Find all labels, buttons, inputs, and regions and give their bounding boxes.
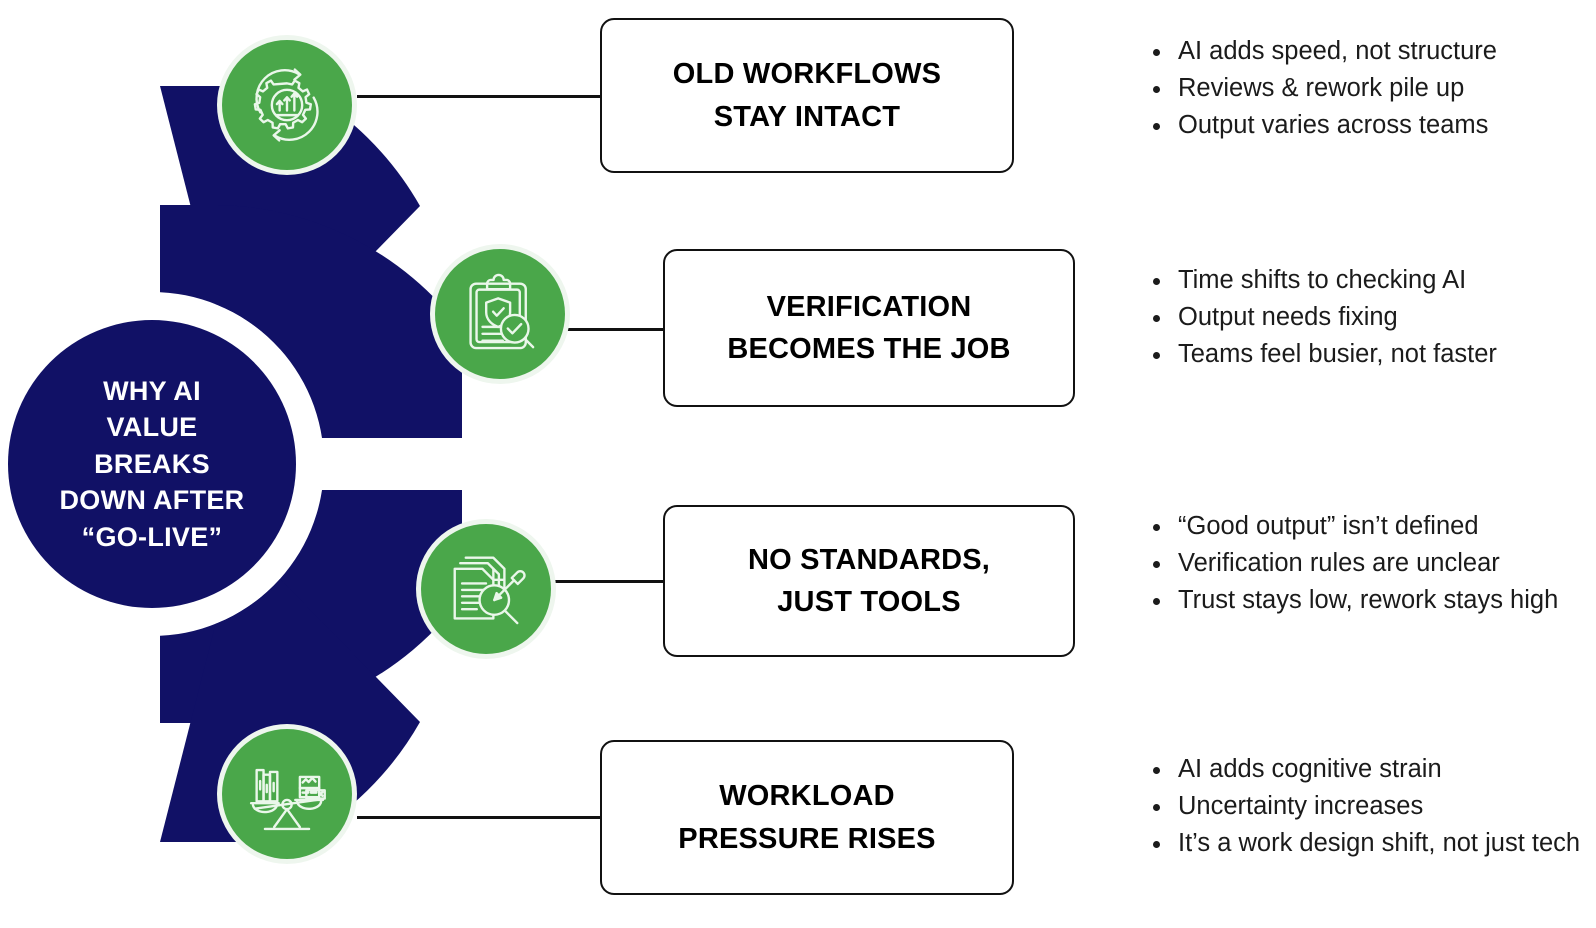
connector-line-4 [357, 816, 602, 819]
branch-title-line-1: VERIFICATION [727, 286, 1010, 328]
infographic-canvas: WHY AI VALUE BREAKS DOWN AFTER “GO-LIVE” [0, 0, 1596, 928]
gear-growth-cycle-icon [241, 59, 333, 151]
balance-scale-books-boxes-icon [241, 748, 333, 840]
bullet-item: Output varies across teams [1174, 108, 1596, 143]
branch-bullets-verification: Time shifts to checking AI Output needs … [1140, 263, 1596, 375]
branch-bullets-no-standards: “Good output” isn’t defined Verification… [1140, 509, 1596, 621]
bullet-item: Time shifts to checking AI [1174, 263, 1596, 298]
branch-title-box-no-standards[interactable]: NO STANDARDS, JUST TOOLS [663, 505, 1075, 657]
branch-title-box-verification[interactable]: VERIFICATION BECOMES THE JOB [663, 249, 1075, 407]
bullet-item: Teams feel busier, not faster [1174, 337, 1596, 372]
branch-title-line-1: NO STANDARDS, [748, 539, 990, 581]
bullet-item: Reviews & rework pile up [1174, 71, 1596, 106]
branch-bullets-workload: AI adds cognitive strain Uncertainty inc… [1140, 752, 1596, 864]
bullet-item: Uncertainty increases [1174, 789, 1596, 824]
branch-title-line-2: PRESSURE RISES [678, 818, 935, 860]
branch-title-box-workload[interactable]: WORKLOAD PRESSURE RISES [600, 740, 1014, 895]
branch-icon-no-standards[interactable] [421, 524, 551, 654]
branch-title-line-2: JUST TOOLS [748, 581, 990, 623]
branch-icon-workload[interactable] [222, 729, 352, 859]
bullet-item: “Good output” isn’t defined [1174, 509, 1596, 544]
clipboard-shield-check-magnifier-icon [454, 268, 546, 360]
branch-title-box-old-workflows[interactable]: OLD WORKFLOWS STAY INTACT [600, 18, 1014, 173]
branch-title-line-2: BECOMES THE JOB [727, 328, 1010, 370]
branch-title-line-1: WORKLOAD [678, 775, 935, 817]
branch-icon-verification[interactable] [435, 249, 565, 379]
branch-icon-old-workflows[interactable] [222, 40, 352, 170]
connector-line-3 [553, 580, 665, 583]
connector-line-2 [567, 328, 665, 331]
bullet-item: Output needs fixing [1174, 300, 1596, 335]
bullet-item: Verification rules are unclear [1174, 546, 1596, 581]
bullet-item: AI adds cognitive strain [1174, 752, 1596, 787]
connector-line-1 [357, 95, 602, 98]
documents-magnifier-pencil-icon [440, 543, 532, 635]
hub-circle [8, 320, 296, 608]
bullet-item: Trust stays low, rework stays high [1174, 583, 1596, 618]
bullet-item: AI adds speed, not structure [1174, 34, 1596, 69]
branch-title-line-1: OLD WORKFLOWS [673, 53, 941, 95]
branch-title-line-2: STAY INTACT [673, 96, 941, 138]
branch-bullets-old-workflows: AI adds speed, not structure Reviews & r… [1140, 34, 1596, 146]
bullet-item: It’s a work design shift, not just tech [1174, 826, 1596, 861]
